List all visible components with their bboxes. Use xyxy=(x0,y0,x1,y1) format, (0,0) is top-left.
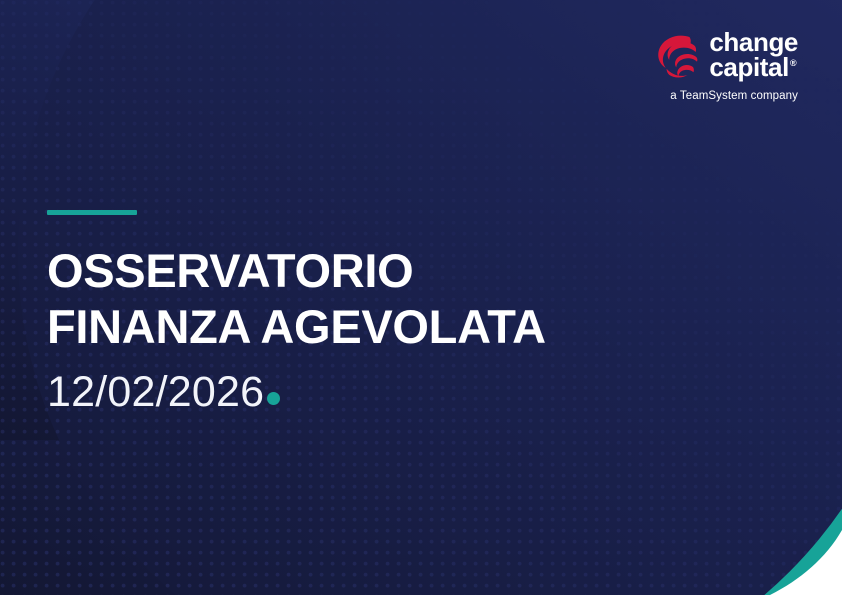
logo-row: change capital® xyxy=(656,30,798,81)
logo-tagline: a TeamSystem company xyxy=(670,90,798,102)
page-title: OSSERVATORIO FINANZA AGEVOLATA xyxy=(47,243,747,356)
page-title-line-1: OSSERVATORIO xyxy=(47,243,747,299)
date-line: 12/02/2026 xyxy=(47,370,747,415)
logo-wordmark: change capital® xyxy=(709,30,798,81)
registered-trademark-icon: ® xyxy=(790,58,796,68)
accent-rule xyxy=(47,210,137,215)
logo-word-capital-text: capital xyxy=(709,52,789,82)
date-text: 12/02/2026 xyxy=(47,370,264,415)
change-capital-swirl-icon xyxy=(656,32,700,79)
brand-logo: change capital® a TeamSystem company xyxy=(608,30,798,102)
teal-dot-icon xyxy=(267,392,280,405)
title-slide: change capital® a TeamSystem company OSS… xyxy=(0,0,842,595)
page-title-line-2: FINANZA AGEVOLATA xyxy=(47,299,747,355)
title-content: OSSERVATORIO FINANZA AGEVOLATA 12/02/202… xyxy=(47,210,747,415)
logo-word-capital: capital® xyxy=(709,55,798,80)
